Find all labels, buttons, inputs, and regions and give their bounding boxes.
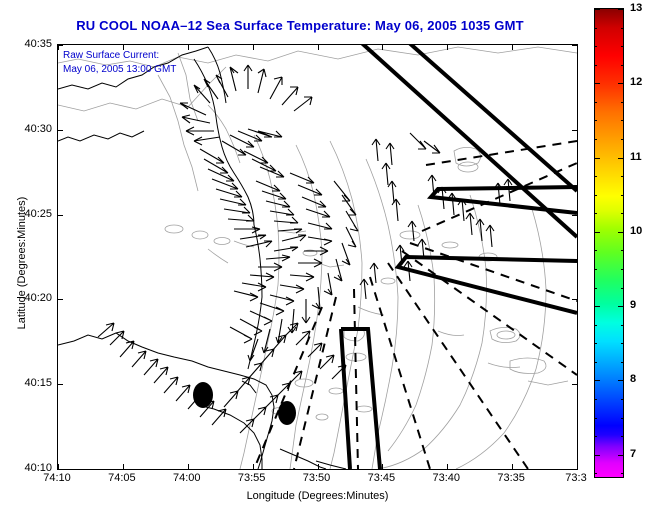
colorbar-minor-tick <box>621 473 624 474</box>
x-tick <box>253 464 254 469</box>
colorbar-minor-tick <box>621 65 624 66</box>
x-tick <box>253 45 254 50</box>
colorbar-minor-tick <box>621 176 624 177</box>
figure-title: RU COOL NOAA–12 Sea Surface Temperature:… <box>0 18 600 33</box>
colorbar-tick <box>618 9 624 10</box>
station-markers <box>193 382 296 425</box>
colorbar-minor-tick <box>621 28 624 29</box>
x-tick <box>512 45 513 50</box>
x-axis-title: Longitude (Degrees:Minutes) <box>57 490 578 502</box>
x-tick <box>447 464 448 469</box>
colorbar-minor-tick <box>621 436 624 437</box>
colorbar-tick-label: 7 <box>630 448 636 460</box>
colorbar-minor-tick <box>621 269 624 270</box>
colorbar-minor-tick <box>621 120 624 121</box>
x-tick-label: 73:3 <box>565 472 586 484</box>
y-tick-label: 40:15 <box>52 377 80 389</box>
x-tick <box>577 45 578 50</box>
annotation-line-2: May 06, 2005 13:00 GMT <box>63 63 176 77</box>
colorbar-tick-label: 8 <box>630 373 636 385</box>
plot-area: Raw Surface Current: May 06, 2005 13:00 … <box>57 44 578 470</box>
colorbar-minor-tick <box>621 46 624 47</box>
x-tick <box>382 45 383 50</box>
colorbar-tick <box>594 380 600 381</box>
colorbar-minor-tick <box>621 325 624 326</box>
y-axis-title: Latitude (Degrees:Minutes) <box>16 163 28 363</box>
x-tick <box>577 464 578 469</box>
colorbar-tick-label: 9 <box>630 299 636 311</box>
y-tick-label: 40:10 <box>52 462 80 474</box>
colorbar-tick-label: 13 <box>630 2 642 14</box>
colorbar-minor-tick <box>621 288 624 289</box>
map-graphics <box>58 45 577 469</box>
x-tick-label: 73:35 <box>497 472 525 484</box>
x-tick <box>447 45 448 50</box>
colorbar-minor-tick <box>594 269 597 270</box>
colorbar-minor-tick <box>594 288 597 289</box>
x-tick-label: 74:05 <box>108 472 136 484</box>
colorbar-minor-tick <box>594 139 597 140</box>
x-tick <box>188 464 189 469</box>
colorbar-tick <box>594 232 600 233</box>
colorbar-minor-tick <box>594 120 597 121</box>
colorbar-tick-label: 12 <box>630 76 642 88</box>
x-tick <box>318 45 319 50</box>
current-annotation: Raw Surface Current: May 06, 2005 13:00 … <box>63 49 176 77</box>
colorbar-minor-tick <box>621 195 624 196</box>
x-tick <box>512 464 513 469</box>
colorbar-minor-tick <box>621 362 624 363</box>
colorbar-tick <box>618 306 624 307</box>
x-tick-label: 73:45 <box>368 472 396 484</box>
colorbar-tick <box>618 455 624 456</box>
colorbar-minor-tick <box>621 399 624 400</box>
colorbar-tick-label: 11 <box>630 151 642 163</box>
x-tick <box>123 45 124 50</box>
y-tick-label: 40:20 <box>52 292 80 304</box>
colorbar-minor-tick <box>594 65 597 66</box>
colorbar-minor-tick <box>594 436 597 437</box>
colorbar-minor-tick <box>594 343 597 344</box>
colorbar-tick <box>618 83 624 84</box>
colorbar-minor-tick <box>594 418 597 419</box>
y-tick <box>572 469 577 470</box>
colorbar-minor-tick <box>594 213 597 214</box>
colorbar <box>594 8 624 478</box>
colorbar-tick <box>618 380 624 381</box>
y-tick-label: 40:25 <box>52 208 80 220</box>
y-tick <box>572 45 577 46</box>
colorbar-minor-tick <box>594 399 597 400</box>
x-tick <box>382 464 383 469</box>
y-tick-label: 40:35 <box>52 38 80 50</box>
colorbar-minor-tick <box>594 325 597 326</box>
colorbar-tick <box>594 306 600 307</box>
colorbar-minor-tick <box>621 139 624 140</box>
colorbar-minor-tick <box>594 28 597 29</box>
survey-transect-boxes <box>341 45 577 469</box>
plot-canvas: Raw Surface Current: May 06, 2005 13:00 … <box>58 45 577 469</box>
x-tick-label: 73:55 <box>238 472 266 484</box>
colorbar-minor-tick <box>594 473 597 474</box>
annotation-line-1: Raw Surface Current: <box>63 49 176 63</box>
colorbar-minor-tick <box>594 102 597 103</box>
y-tick <box>572 130 577 131</box>
x-tick <box>188 45 189 50</box>
colorbar-minor-tick <box>594 46 597 47</box>
colorbar-tick <box>618 158 624 159</box>
x-tick <box>318 464 319 469</box>
y-tick <box>572 384 577 385</box>
colorbar-minor-tick <box>621 343 624 344</box>
y-tick-label: 40:30 <box>52 123 80 135</box>
x-tick-label: 73:50 <box>303 472 331 484</box>
radial-rays <box>254 141 577 469</box>
colorbar-minor-tick <box>621 250 624 251</box>
colorbar-minor-tick <box>594 250 597 251</box>
colorbar-minor-tick <box>594 195 597 196</box>
sst-map-figure: RU COOL NOAA–12 Sea Surface Temperature:… <box>0 0 651 515</box>
colorbar-minor-tick <box>594 362 597 363</box>
y-tick <box>572 215 577 216</box>
colorbar-minor-tick <box>594 176 597 177</box>
x-tick <box>123 464 124 469</box>
x-tick-label: 73:40 <box>432 472 460 484</box>
x-tick-label: 74:00 <box>173 472 201 484</box>
colorbar-tick <box>594 158 600 159</box>
colorbar-minor-tick <box>621 102 624 103</box>
colorbar-tick-label: 10 <box>630 225 642 237</box>
colorbar-tick <box>594 83 600 84</box>
y-tick <box>572 299 577 300</box>
colorbar-tick <box>594 455 600 456</box>
colorbar-tick <box>618 232 624 233</box>
colorbar-minor-tick <box>621 213 624 214</box>
colorbar-tick <box>594 9 600 10</box>
colorbar-minor-tick <box>621 418 624 419</box>
